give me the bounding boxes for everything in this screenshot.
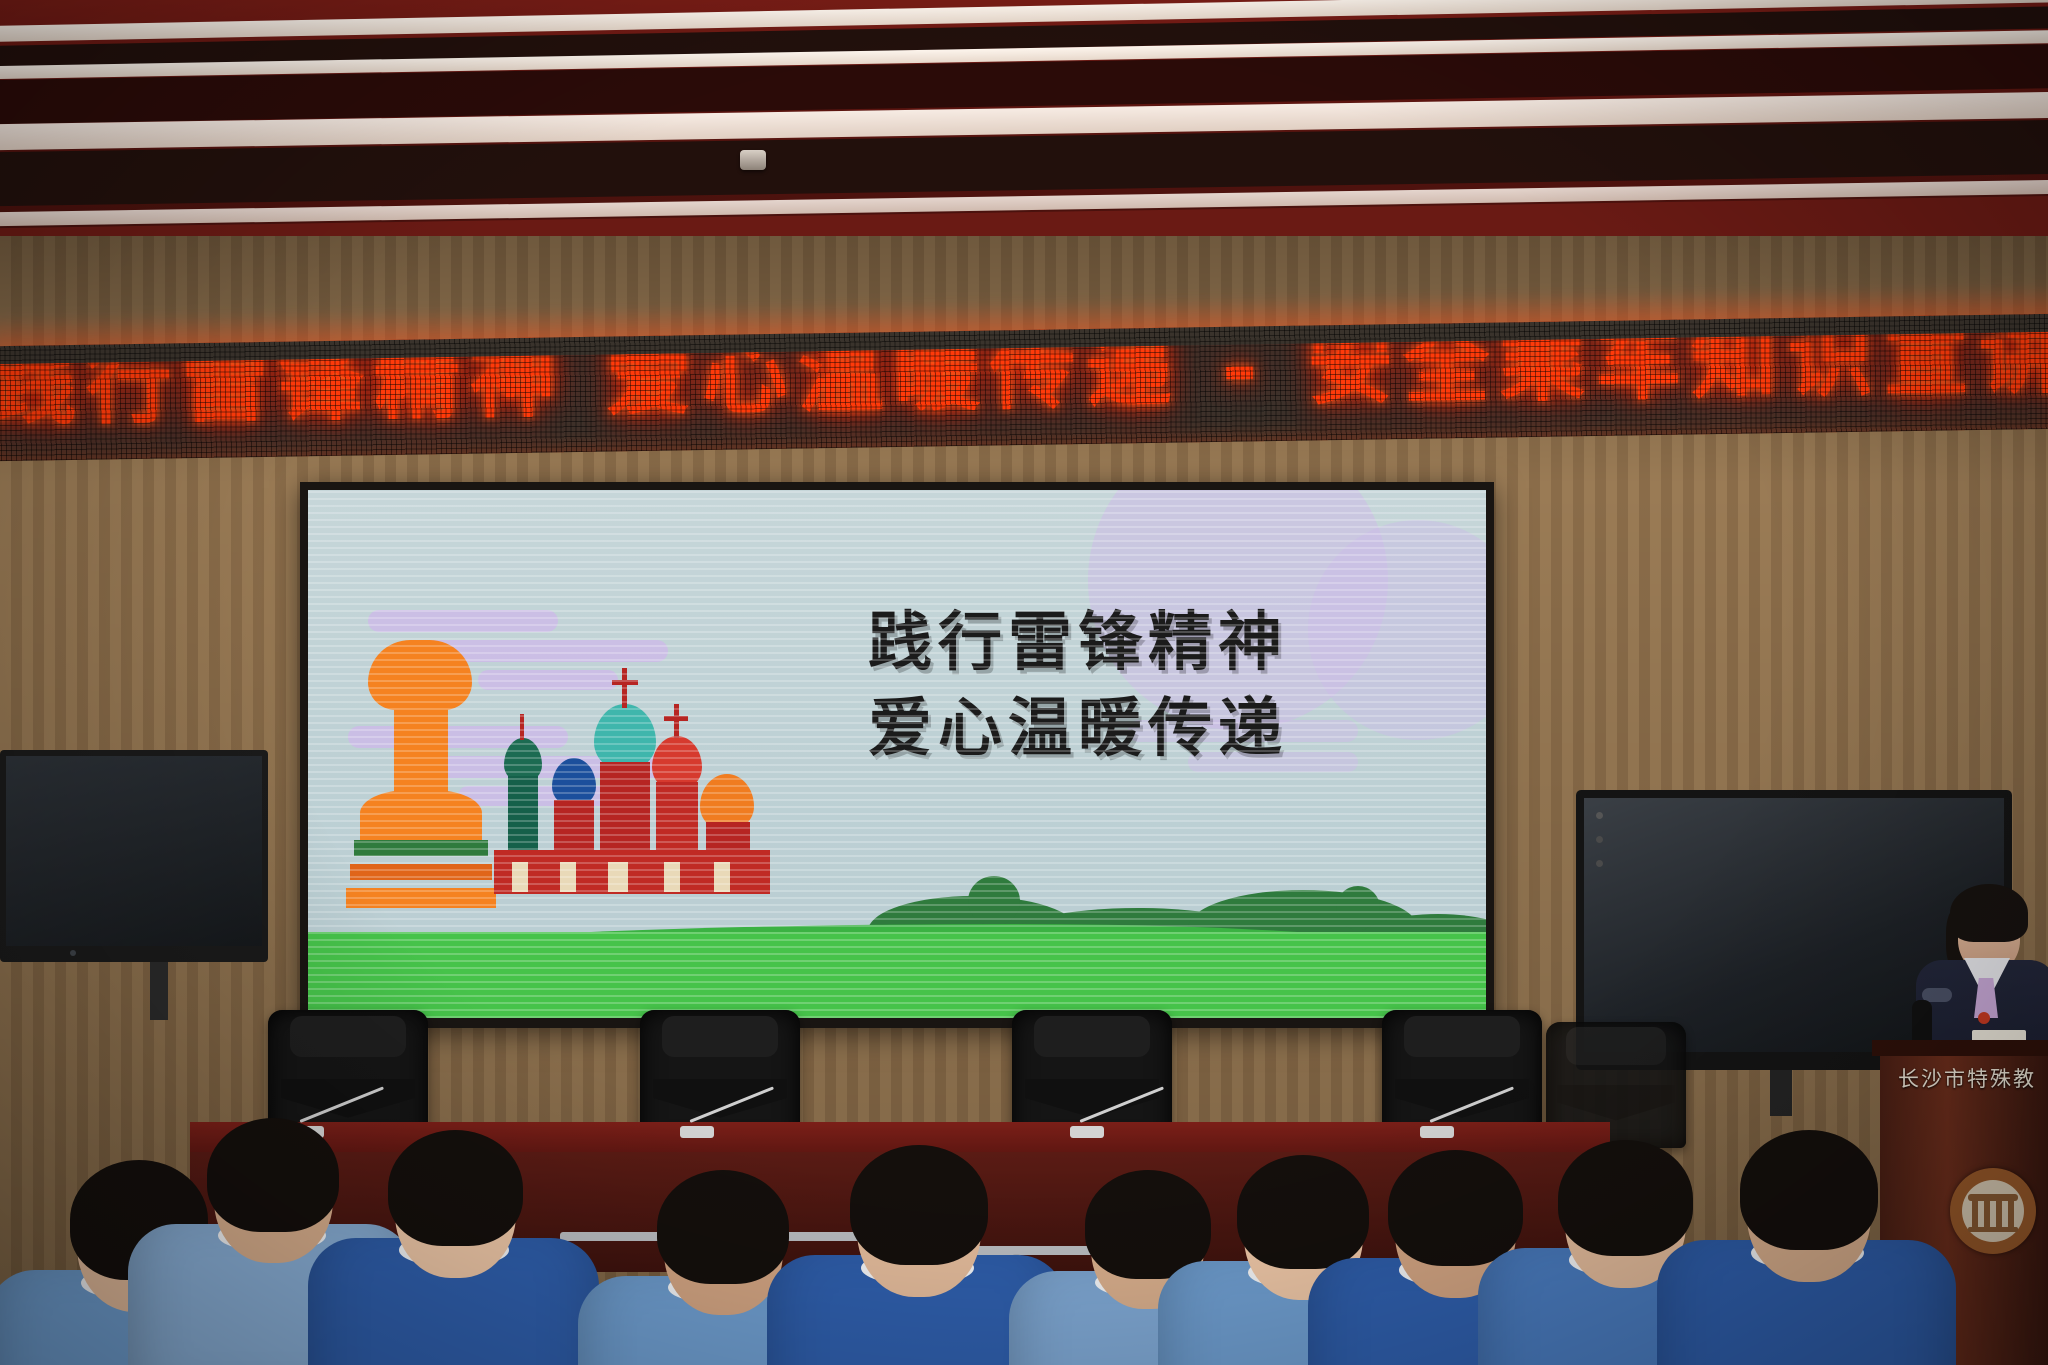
audience-hair [1558,1140,1692,1256]
audience-hair [850,1145,988,1265]
audience-hair [388,1130,522,1246]
audience-hair [657,1170,789,1284]
audience-hair [1237,1155,1369,1269]
auditorium-photo: 践行雷锋精神 爱心温暖传递 - 安全乘车知识宣讲活动 [0,0,2048,1365]
audience [0,0,2048,1365]
audience-hair [1388,1150,1522,1266]
audience-hair [207,1118,339,1232]
audience-hair [1740,1130,1878,1250]
